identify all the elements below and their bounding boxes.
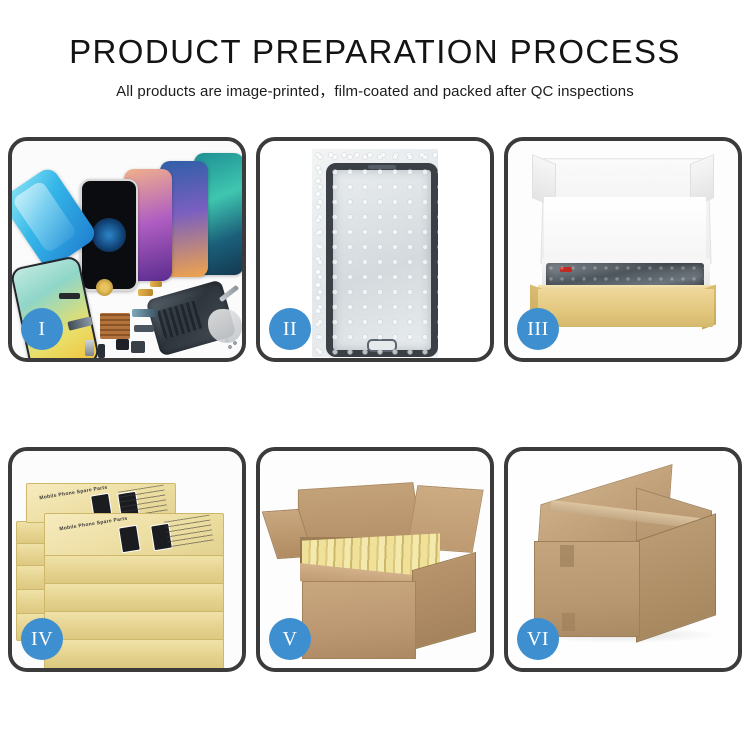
carton-tab-upper [560,545,574,567]
flex-cable-b-icon [132,309,158,317]
page-subtitle: All products are image-printed，film-coat… [0,80,750,101]
box-lid-screen-image-3 [118,524,141,553]
box-lid-spec-lines-front [164,515,214,550]
process-step-panel-6[interactable]: VI [504,447,742,672]
gold-connector-2-icon [150,281,162,287]
carton-front-face [302,581,416,659]
carton-tab-lower [562,613,575,631]
speaker-part-icon [59,293,80,299]
copper-grid-part-icon [100,313,130,339]
flex-cable-c-icon [134,325,154,332]
step-badge-3: III [517,308,559,350]
page-header: PRODUCT PREPARATION PROCESS All products… [0,0,750,101]
process-step-panel-3[interactable]: III [504,137,742,362]
bubble-texture-overlay [312,149,438,357]
stack-box-top-front: Mobile Phone Spare Parts [44,513,224,557]
step-badge-5: V [269,618,311,660]
bubble-wrap-sheet [312,149,438,357]
stack-box-front-4 [44,639,224,668]
button-part-icon [98,344,105,358]
battery-part-icon [85,340,94,356]
process-step-panel-2[interactable]: II [256,137,494,362]
sim-tray-icon [131,341,145,353]
stack-box-front-1 [44,555,224,585]
mailer-box-body [538,289,714,327]
step-badge-4: IV [21,618,63,660]
step-badge-6: VI [517,618,559,660]
gold-connector-icon [138,289,153,296]
stack-box-front-3 [44,611,224,641]
red-label-mark [560,267,572,272]
process-step-grid: I II [8,137,742,672]
step-badge-2: II [269,308,311,350]
camera-module-icon [116,339,129,350]
process-step-panel-4[interactable]: Mobile Phone Spare Parts Mobile Phone Sp… [8,447,246,672]
wireless-coil-part-icon [96,279,113,296]
page-title: PRODUCT PREPARATION PROCESS [0,34,750,71]
hand-icon [208,309,242,343]
process-step-panel-5[interactable]: V [256,447,494,672]
step-badge-1: I [21,308,63,350]
stack-box-front-2 [44,583,224,613]
process-step-panel-1[interactable]: I [8,137,246,362]
